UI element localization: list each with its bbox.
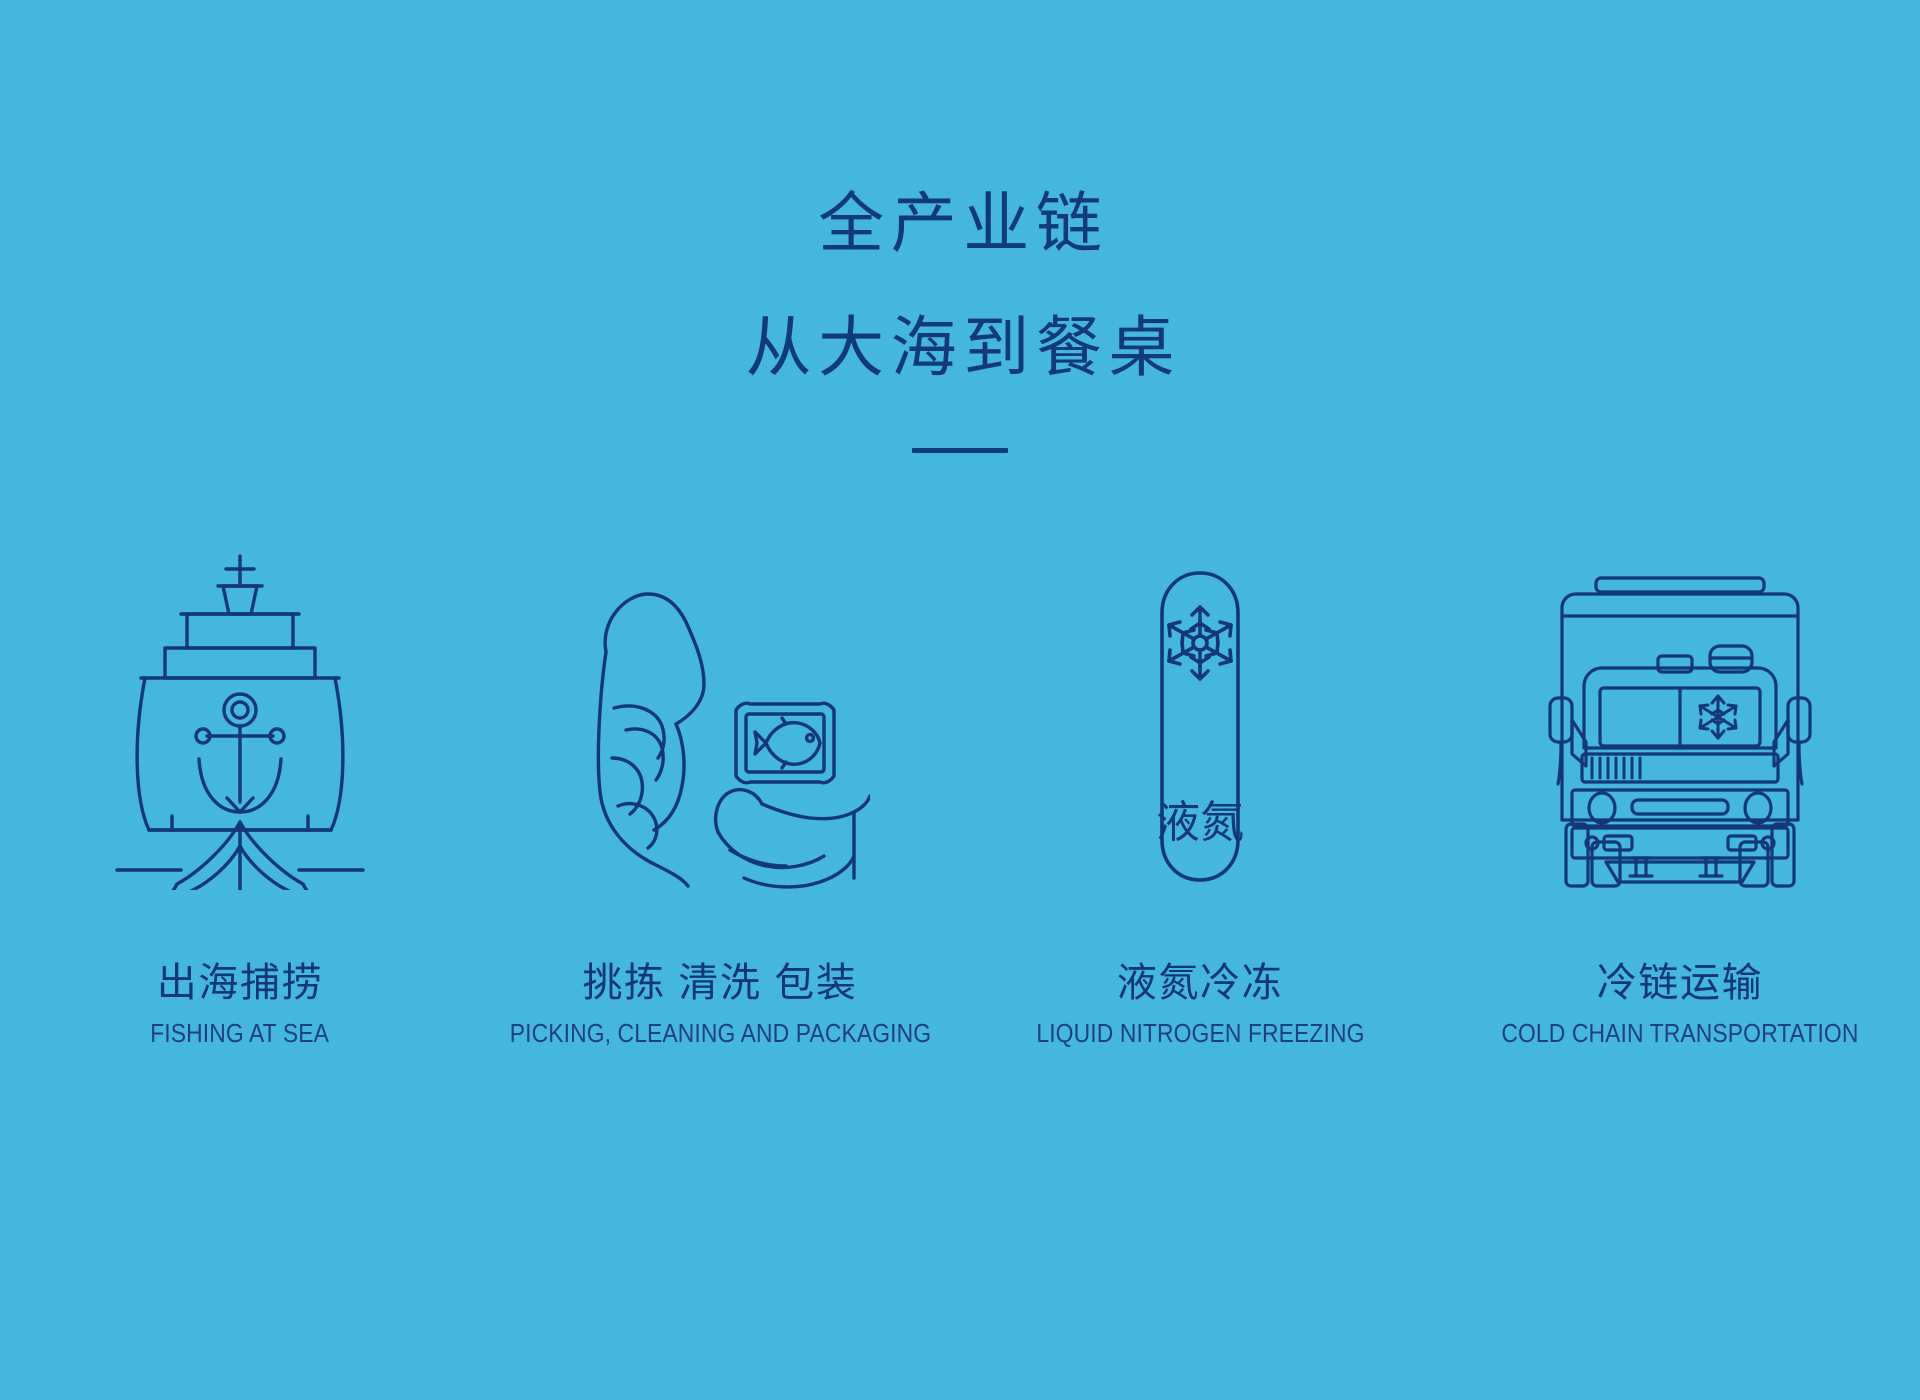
infographic-page: 全产业链 从大海到餐桌 bbox=[0, 0, 1920, 1400]
grille-slats bbox=[1592, 758, 1640, 778]
step-liquid-nitrogen-freezing: 液氮 液氮冷冻 LIQUID NITROGEN FREEZING bbox=[960, 520, 1440, 1049]
liquid-nitrogen-tank-icon: 液氮 bbox=[1110, 565, 1290, 890]
refrigerated-truck-icon bbox=[1540, 570, 1820, 890]
step-label-en: PICKING, CLEANING AND PACKAGING bbox=[509, 1018, 930, 1049]
snowflake-icon bbox=[1169, 607, 1231, 679]
process-steps: 出海捕捞 FISHING AT SEA bbox=[0, 520, 1920, 1049]
step-cold-chain-transportation: 冷链运输 COLD CHAIN TRANSPORTATION bbox=[1440, 520, 1920, 1049]
step-picking-cleaning-packaging: 挑拣 清洗 包装 PICKING, CLEANING AND PACKAGING bbox=[480, 520, 960, 1049]
step-label-cn: 液氮冷冻 bbox=[1014, 962, 1387, 1004]
icon-box: 液氮 bbox=[1110, 520, 1290, 890]
hands-fish-package-icon bbox=[570, 560, 870, 890]
divider-wrap bbox=[0, 448, 1920, 453]
header: 全产业链 从大海到餐桌 bbox=[0, 0, 1920, 453]
step-label-en: COLD CHAIN TRANSPORTATION bbox=[1501, 1018, 1858, 1049]
step-label-cn: 出海捕捞 bbox=[138, 962, 341, 1004]
step-label-cn: 冷链运输 bbox=[1477, 962, 1883, 1004]
icon-box bbox=[115, 520, 365, 890]
snowflake-icon bbox=[1700, 696, 1736, 738]
icon-box bbox=[1540, 520, 1820, 890]
step-label-en: FISHING AT SEA bbox=[151, 1018, 330, 1049]
page-title-line-2: 从大海到餐桌 bbox=[0, 316, 1920, 382]
step-label-cn: 挑拣 清洗 包装 bbox=[481, 962, 960, 1004]
step-fishing-at-sea: 出海捕捞 FISHING AT SEA bbox=[0, 520, 480, 1049]
step-labels: 液氮冷冻 LIQUID NITROGEN FREEZING bbox=[1014, 962, 1387, 1049]
step-label-en: LIQUID NITROGEN FREEZING bbox=[1036, 1018, 1364, 1049]
tank-label: 液氮 bbox=[1156, 798, 1244, 847]
page-title-line-1: 全产业链 bbox=[0, 192, 1920, 258]
step-labels: 冷链运输 COLD CHAIN TRANSPORTATION bbox=[1477, 962, 1883, 1049]
step-labels: 出海捕捞 FISHING AT SEA bbox=[138, 962, 341, 1049]
fishing-boat-icon bbox=[115, 550, 365, 890]
title-divider bbox=[912, 448, 1008, 453]
icon-box bbox=[570, 520, 870, 890]
step-labels: 挑拣 清洗 包装 PICKING, CLEANING AND PACKAGING bbox=[481, 962, 960, 1049]
